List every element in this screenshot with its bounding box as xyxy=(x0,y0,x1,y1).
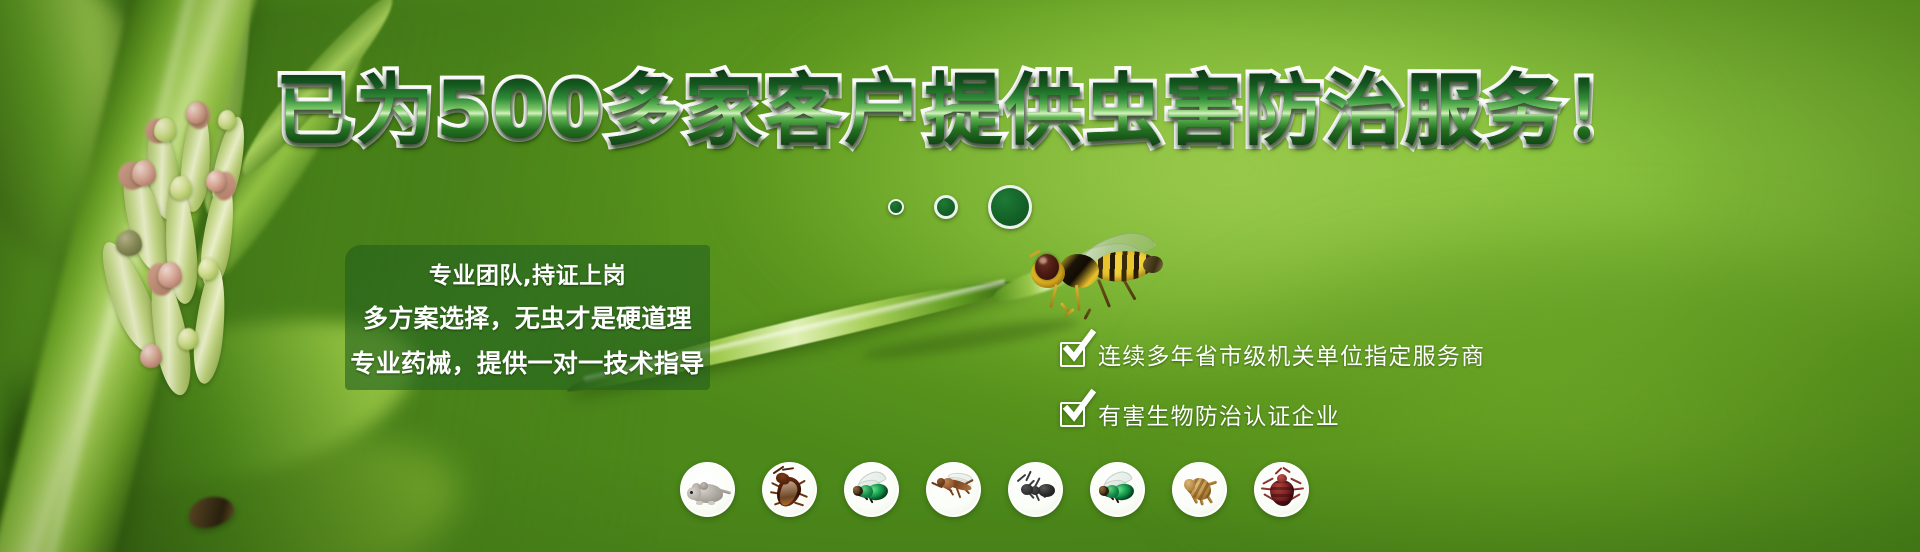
decorative-dots xyxy=(0,185,1920,229)
bedbug-icon[interactable] xyxy=(1254,462,1309,517)
cockroach-icon[interactable] xyxy=(762,462,817,517)
credentials-list: 连续多年省市级机关单位指定服务商 有害生物防治认证企业 xyxy=(1060,337,1485,431)
mouse-icon[interactable] xyxy=(680,462,735,517)
list-item: 有害生物防治认证企业 xyxy=(1060,397,1485,431)
promo-banner: 已为500多家客户提供虫害防治服务！ 已为500多家客户提供虫害防治服务！ 专业… xyxy=(0,0,1920,552)
flea-icon[interactable] xyxy=(1172,462,1227,517)
selling-point-1: 专业团队,持证上岗 xyxy=(429,256,626,290)
dot-medium-icon xyxy=(934,195,958,219)
list-item: 连续多年省市级机关单位指定服务商 xyxy=(1060,337,1485,371)
selling-point-2: 多方案选择，无虫才是硬道理 xyxy=(363,299,692,335)
checkbox-checked-icon xyxy=(1060,402,1085,427)
credential-label: 连续多年省市级机关单位指定服务商 xyxy=(1098,337,1485,371)
page-title: 已为500多家客户提供虫害防治服务！ xyxy=(0,72,1920,150)
blowfly-icon[interactable] xyxy=(1090,462,1145,517)
dot-large-icon xyxy=(988,185,1032,229)
selling-point-3: 专业药械，提供一对一技术指导 xyxy=(350,344,704,380)
mosquito-icon[interactable] xyxy=(926,462,981,517)
greenbottle-fly-icon[interactable] xyxy=(844,462,899,517)
checkbox-checked-icon xyxy=(1060,342,1085,367)
credential-label: 有害生物防治认证企业 xyxy=(1098,397,1340,431)
ant-icon[interactable] xyxy=(1008,462,1063,517)
selling-points-panel: 专业团队,持证上岗 多方案选择，无虫才是硬道理 专业药械，提供一对一技术指导 xyxy=(345,245,710,390)
dot-small-icon xyxy=(888,199,904,215)
pest-type-icons xyxy=(680,462,1309,517)
